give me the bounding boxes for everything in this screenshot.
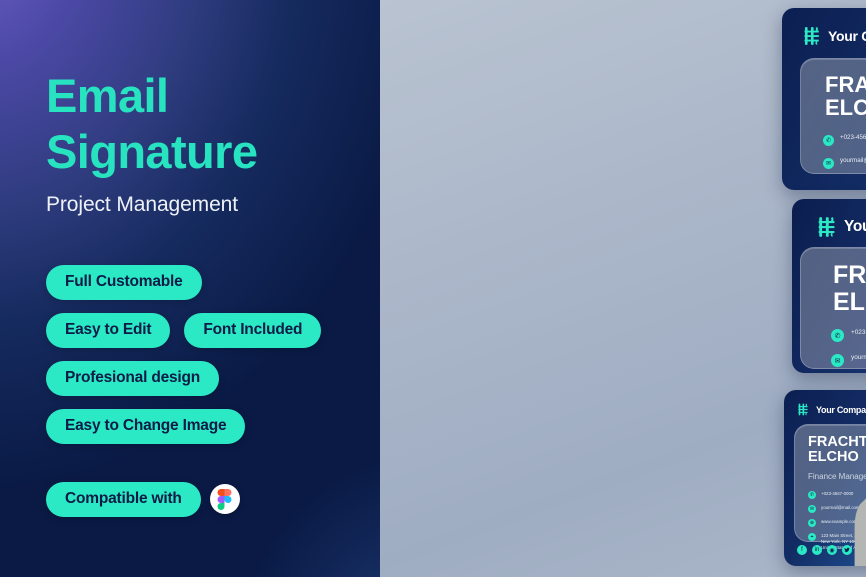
monogram-logo-icon: [798, 403, 809, 416]
compatible-with-row: Compatible with: [46, 482, 380, 517]
company-name: Your Company: [828, 28, 866, 44]
contact-email[interactable]: ✉ yourmail@mail.com: [831, 354, 866, 371]
contact-email[interactable]: ✉ yourmail@mail.com: [823, 157, 866, 182]
location-pin-icon: ⌖: [808, 533, 816, 541]
figma-icon[interactable]: [210, 484, 240, 514]
email-signature-card-bottom-left[interactable]: Your Company FRACHTINUSELCHO Finance Man…: [784, 390, 866, 566]
compatible-with-label[interactable]: Compatible with: [46, 482, 201, 517]
feature-pill-row: Profesional design: [46, 361, 219, 396]
phone-icon: ✆: [808, 491, 816, 499]
portrait-photo: [845, 410, 866, 566]
contact-grid: ✆ +023-4567-0000 ⊕ www.example.com ✉ you…: [831, 329, 866, 371]
headline-line-2: Signature: [46, 128, 380, 176]
feature-pill-easy-to-change-image[interactable]: Easy to Change Image: [46, 409, 245, 444]
left-hero-panel: Email Signature Project Management Full …: [0, 0, 380, 577]
facebook-icon[interactable]: f: [797, 545, 807, 555]
monogram-logo-icon: [818, 216, 837, 238]
phone-icon: ✆: [823, 135, 834, 146]
brand-lockup: Your Company: [804, 26, 866, 46]
poster-canvas: Email Signature Project Management Full …: [0, 0, 866, 577]
email-value: yourmail@mail.com: [840, 157, 866, 165]
company-name: Your Company: [844, 218, 866, 236]
headline-line-1: Email: [46, 69, 168, 122]
signature-glass-panel: FRACHTINUSELCHO Finance Manager ✆ +023-4…: [800, 58, 866, 174]
envelope-icon: ✉: [831, 354, 844, 367]
contact-phone[interactable]: ✆ +023-4567-0000: [831, 329, 866, 342]
email-signature-card-top-left[interactable]: Your Company f in ◉ FRACHTINUSELCHO Fina…: [782, 8, 866, 190]
page-title: Email Signature: [46, 72, 380, 176]
monogram-logo-icon: [804, 26, 821, 46]
instagram-icon[interactable]: ◉: [827, 545, 837, 555]
email-signature-card-middle[interactable]: Your Company f in FRACHTINUSELCHO Financ…: [792, 199, 866, 373]
feature-pill-profesional-design[interactable]: Profesional design: [46, 361, 219, 396]
globe-icon: ⊕: [808, 519, 816, 527]
contact-grid: ✆ +023-4567-0000 ⊕ www.example.com ✉ you…: [823, 134, 866, 182]
linkedin-icon[interactable]: in: [812, 545, 822, 555]
feature-pill-full-customable[interactable]: Full Customable: [46, 265, 202, 300]
phone-value: +023-4567-0000: [840, 134, 866, 142]
page-subtitle: Project Management: [46, 193, 380, 217]
signature-glass-panel: FRACHTINUSELCHO Finance Manager ✆ +023-4…: [800, 247, 866, 369]
envelope-icon: ✉: [808, 505, 816, 513]
feature-pill-row: Easy to Edit Font Included: [46, 313, 321, 348]
phone-icon: ✆: [831, 329, 844, 342]
feature-pill-easy-to-edit[interactable]: Easy to Edit: [46, 313, 170, 348]
brand-lockup: Your Company: [818, 216, 866, 238]
contact-phone[interactable]: ✆ +023-4567-0000: [823, 134, 866, 146]
person-name: FRACHTINUSELCHO: [833, 262, 866, 315]
social-links[interactable]: f in ◉: [797, 545, 852, 555]
feature-pill-list: Full Customable Easy to Edit Font Includ…: [46, 265, 380, 444]
feature-pill-row: Full Customable: [46, 265, 202, 300]
person-name: FRACHTINUSELCHO: [825, 73, 866, 120]
envelope-icon: ✉: [823, 158, 834, 169]
feature-pill-row: Easy to Change Image: [46, 409, 245, 444]
feature-pill-font-included[interactable]: Font Included: [184, 313, 321, 348]
mockup-showcase-panel: Your Company f in ◉ FRACHTINUSELCHO Fina…: [380, 0, 866, 577]
